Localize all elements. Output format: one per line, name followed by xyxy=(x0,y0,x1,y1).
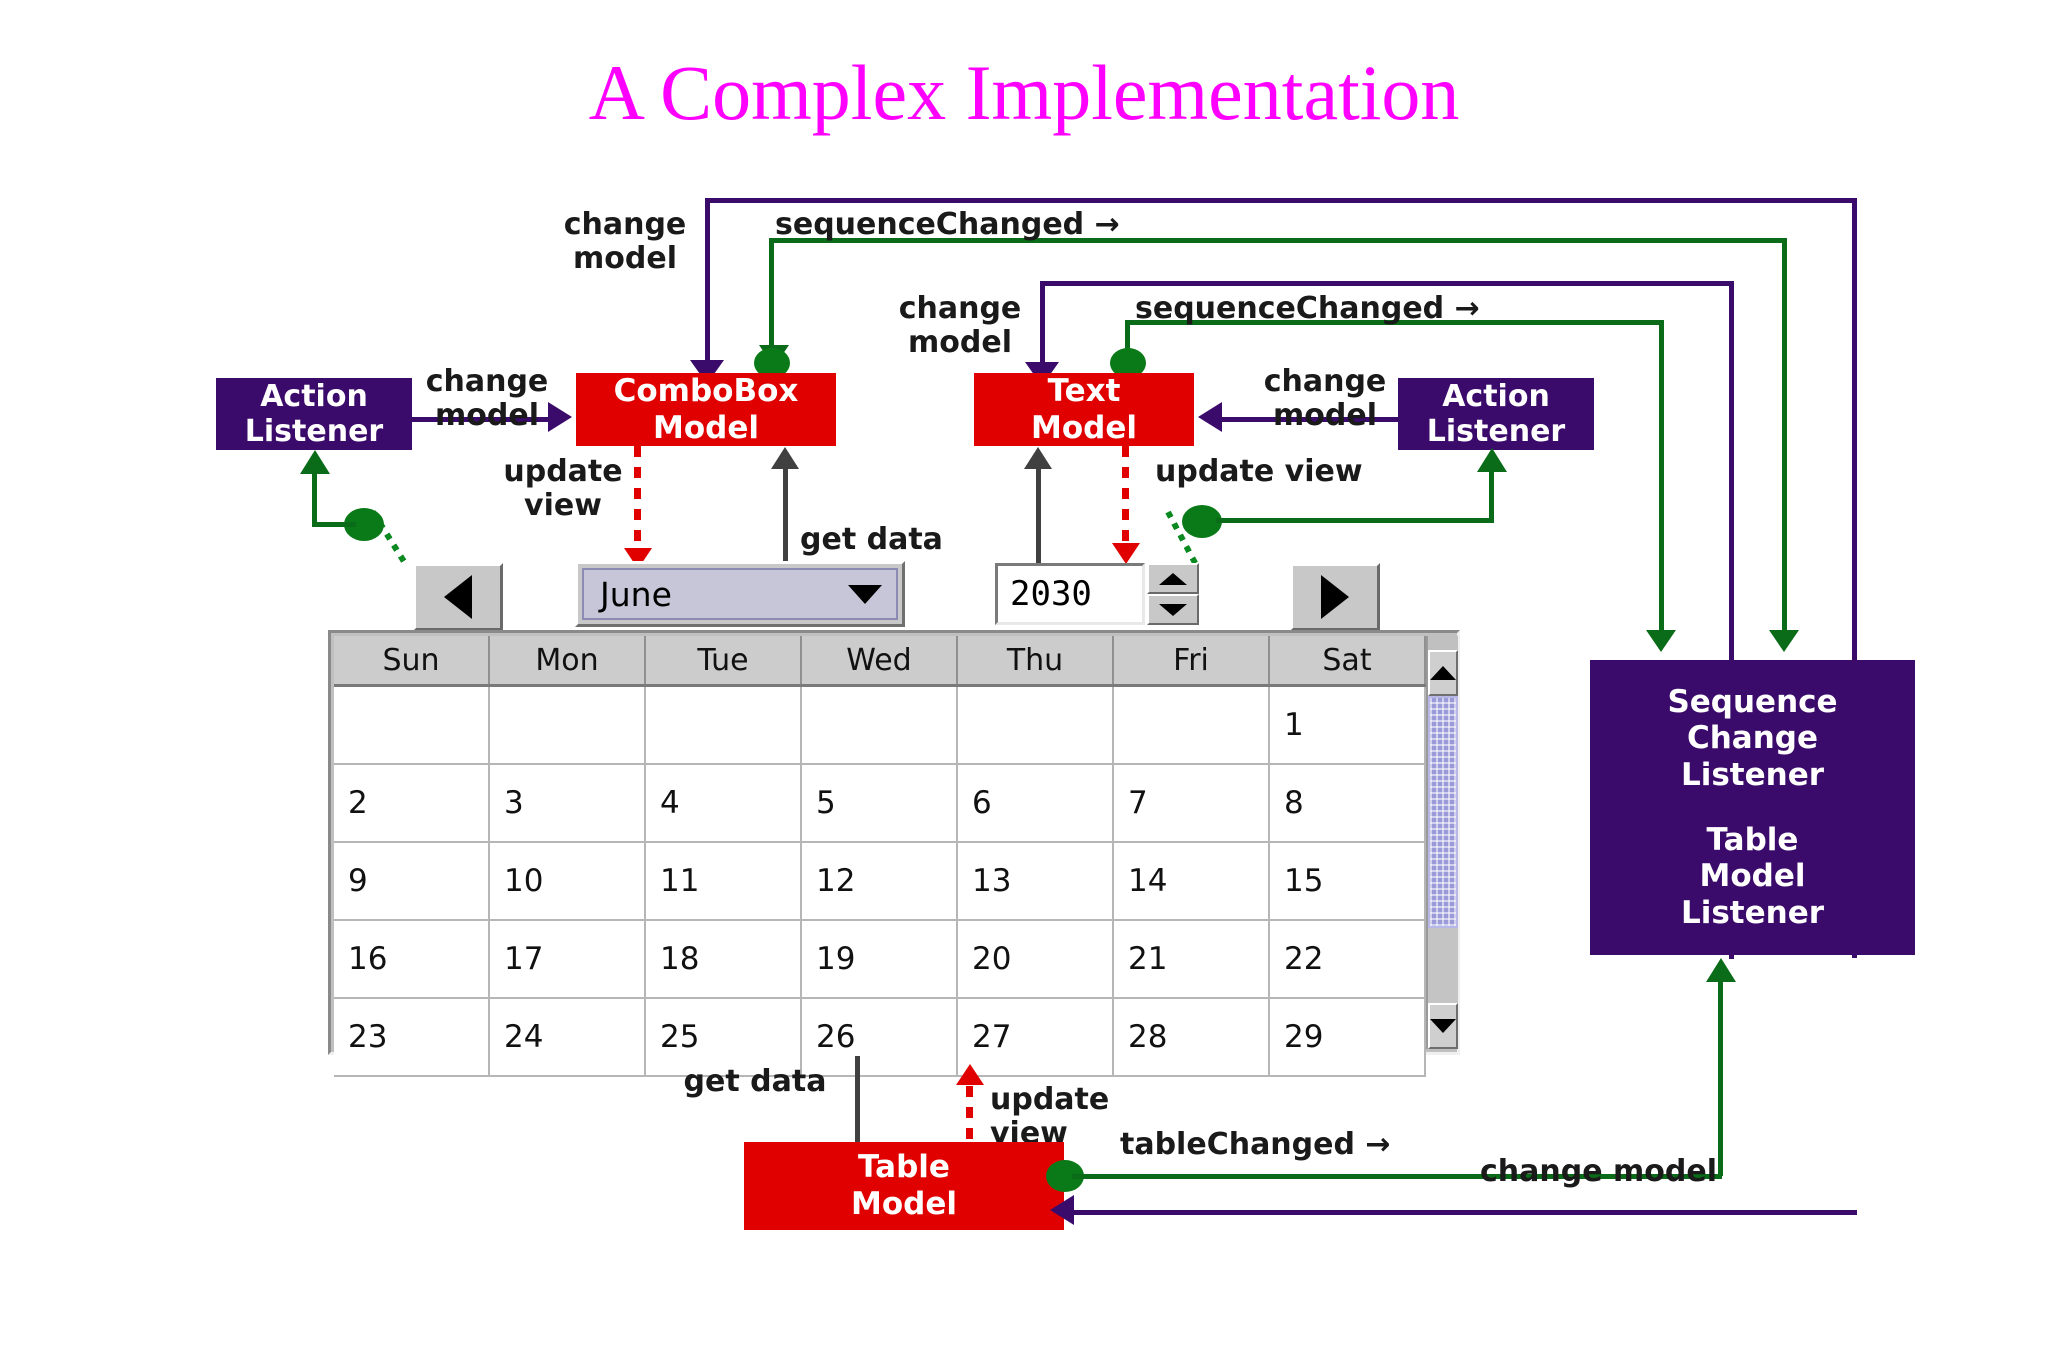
sequence-listener-line5: Model xyxy=(1700,858,1806,895)
sequence-listener-line2: Change xyxy=(1687,720,1818,757)
label-update-view-left: update view xyxy=(493,455,633,522)
year-spinner-buttons[interactable] xyxy=(1147,563,1199,625)
calendar-header-cell[interactable]: Fri xyxy=(1113,636,1269,686)
line-change-model-text-h xyxy=(1040,281,1734,286)
line-change-model-text-v-left xyxy=(1040,281,1045,369)
calendar-cell[interactable]: 5 xyxy=(801,764,957,842)
label-get-data-top: get data xyxy=(800,523,1000,557)
calendar-cell[interactable]: 28 xyxy=(1113,998,1269,1076)
box-text-model: Text Model xyxy=(974,373,1194,446)
line-get-data-combo xyxy=(783,458,788,570)
scrollbar-thumb[interactable] xyxy=(1428,696,1458,928)
table-row: 2 3 4 5 6 7 8 xyxy=(334,764,1425,842)
calendar-table-panel: Sun Mon Tue Wed Thu Fri Sat 1 xyxy=(328,630,1460,1055)
label-change-model-top-mid: change model xyxy=(880,292,1040,359)
line-update-view-text xyxy=(1122,446,1129,546)
line-get-data-spinner xyxy=(1036,458,1041,570)
label-update-view-bottom: update view xyxy=(990,1083,1140,1150)
arrowhead-table-changed xyxy=(1706,958,1736,982)
next-month-button[interactable] xyxy=(1290,563,1380,631)
line-event-next-h xyxy=(1216,518,1494,523)
arrowhead-al-right-to-text xyxy=(1198,402,1222,432)
calendar-header-cell[interactable]: Thu xyxy=(957,636,1113,686)
spinner-up-icon xyxy=(1159,573,1187,585)
scroll-down-icon xyxy=(1430,1019,1456,1033)
chevron-down-icon xyxy=(848,585,882,604)
calendar-cell[interactable]: 23 xyxy=(334,998,489,1076)
year-spinner-field[interactable]: 2030 xyxy=(995,563,1145,625)
calendar-cell[interactable] xyxy=(801,686,957,765)
page-title: A Complex Implementation xyxy=(0,48,2048,138)
calendar-cell[interactable]: 21 xyxy=(1113,920,1269,998)
calendar-cell[interactable]: 3 xyxy=(489,764,645,842)
action-listener-left-line1: Action xyxy=(260,379,368,414)
calendar-cell[interactable]: 6 xyxy=(957,764,1113,842)
calendar-header-row: Sun Mon Tue Wed Thu Fri Sat xyxy=(334,636,1425,686)
calendar-cell[interactable]: 10 xyxy=(489,842,645,920)
scroll-up-icon xyxy=(1430,666,1456,680)
box-sequence-change-listener: Sequence Change Listener Table Model Lis… xyxy=(1590,660,1915,955)
line-event-prev-h xyxy=(312,522,356,527)
arrowhead-change-model-table xyxy=(1050,1195,1074,1225)
scrollbar-down-button[interactable] xyxy=(1428,1003,1458,1049)
scrollbar-track[interactable] xyxy=(1428,696,1458,1003)
calendar-cell[interactable]: 11 xyxy=(645,842,801,920)
sequence-listener-line4: Table xyxy=(1707,822,1799,859)
line-change-model-table-h xyxy=(1074,1210,1857,1215)
line-seqchanged-text-down xyxy=(1659,320,1664,645)
calendar-cell[interactable] xyxy=(489,686,645,765)
slide-canvas: A Complex Implementation change model se… xyxy=(0,0,2048,1365)
box-action-listener-right: Action Listener xyxy=(1398,378,1594,450)
calendar-cell[interactable] xyxy=(645,686,801,765)
left-arrow-icon xyxy=(444,575,472,619)
calendar-cell[interactable]: 22 xyxy=(1269,920,1425,998)
line-seqchanged-combobox-down xyxy=(1782,238,1787,646)
label-table-changed: tableChanged → xyxy=(1120,1128,1490,1162)
arrowhead-update-view-table xyxy=(956,1064,984,1085)
label-sequence-changed-top: sequenceChanged → xyxy=(775,208,1175,242)
text-model-line2: Model xyxy=(1031,410,1137,447)
combobox-model-line1: ComboBox xyxy=(614,373,799,410)
calendar-scrollbar[interactable] xyxy=(1426,636,1458,1049)
line-table-changed-v xyxy=(1718,980,1723,1176)
label-change-model-bottom: change model xyxy=(1480,1155,1810,1189)
table-model-line1: Table xyxy=(858,1149,950,1186)
calendar-cell[interactable] xyxy=(334,686,489,765)
calendar-cell[interactable]: 24 xyxy=(489,998,645,1076)
arrowhead-get-data-spinner xyxy=(1024,447,1052,469)
prev-month-button[interactable] xyxy=(413,563,503,631)
arrowhead-update-view-text xyxy=(1112,543,1140,564)
scrollbar-corner xyxy=(1428,636,1458,650)
calendar-cell[interactable]: 16 xyxy=(334,920,489,998)
box-combobox-model: ComboBox Model xyxy=(576,373,836,446)
table-row: 23 24 25 26 27 28 29 xyxy=(334,998,1425,1076)
calendar-header-cell[interactable]: Wed xyxy=(801,636,957,686)
arrowhead-event-next-to-al xyxy=(1477,448,1507,472)
action-listener-left-line2: Listener xyxy=(245,414,383,449)
calendar-cell[interactable]: 7 xyxy=(1113,764,1269,842)
label-sequence-changed-mid: sequenceChanged → xyxy=(1135,292,1535,326)
year-spinner-value: 2030 xyxy=(1010,574,1092,614)
calendar-cell[interactable]: 17 xyxy=(489,920,645,998)
label-change-model-right: change model xyxy=(1250,365,1400,432)
sequence-listener-line6: Listener xyxy=(1681,895,1824,932)
line-get-data-table xyxy=(855,1056,860,1156)
label-change-model-top-left: change model xyxy=(545,208,705,275)
sequence-listener-line3: Listener xyxy=(1681,757,1824,794)
line-change-model-combobox-v-left xyxy=(705,198,710,366)
action-listener-right-line1: Action xyxy=(1442,379,1550,414)
scrollbar-up-button[interactable] xyxy=(1428,650,1458,696)
table-row: 9 10 11 12 13 14 15 xyxy=(334,842,1425,920)
month-combo-box[interactable]: June xyxy=(575,561,905,627)
calendar-cell[interactable]: 9 xyxy=(334,842,489,920)
action-listener-right-line2: Listener xyxy=(1427,414,1565,449)
calendar-cell[interactable]: 29 xyxy=(1269,998,1425,1076)
calendar-cell[interactable] xyxy=(957,686,1113,765)
calendar-cell[interactable]: 1 xyxy=(1269,686,1425,765)
calendar-header-cell[interactable]: Sat xyxy=(1269,636,1425,686)
arrowhead-get-data-combo xyxy=(771,447,799,469)
calendar-cell[interactable]: 20 xyxy=(957,920,1113,998)
month-combo-value: June xyxy=(600,575,672,614)
line-event-next-v xyxy=(1489,470,1494,522)
sequence-listener-line1: Sequence xyxy=(1667,684,1837,721)
calendar-cell[interactable]: 13 xyxy=(957,842,1113,920)
label-get-data-bottom: get data xyxy=(655,1065,855,1099)
spinner-down-icon xyxy=(1159,604,1187,616)
box-table-model: Table Model xyxy=(744,1142,1064,1230)
arrowhead-seqchanged-to-listener-2 xyxy=(1646,630,1676,652)
text-model-line1: Text xyxy=(1048,373,1121,410)
calendar-cell[interactable] xyxy=(1113,686,1269,765)
box-action-listener-left: Action Listener xyxy=(216,378,412,450)
year-spinner-up-button[interactable] xyxy=(1147,563,1199,594)
calendar-cell[interactable]: 8 xyxy=(1269,764,1425,842)
table-row: 1 xyxy=(334,686,1425,765)
calendar-cell[interactable]: 12 xyxy=(801,842,957,920)
line-update-view-combobox xyxy=(634,446,641,551)
combobox-model-line2: Model xyxy=(653,410,759,447)
calendar-cell[interactable]: 18 xyxy=(645,920,801,998)
table-model-line2: Model xyxy=(851,1186,957,1223)
calendar-cell[interactable]: 14 xyxy=(1113,842,1269,920)
calendar-header-cell[interactable]: Tue xyxy=(645,636,801,686)
year-spinner-down-button[interactable] xyxy=(1147,594,1199,625)
calendar-cell[interactable]: 19 xyxy=(801,920,957,998)
line-event-prev-v xyxy=(312,472,317,524)
calendar-cell[interactable]: 15 xyxy=(1269,842,1425,920)
label-change-model-left: change model xyxy=(412,365,562,432)
label-update-view-right: update view xyxy=(1155,455,1385,489)
calendar-header-cell[interactable]: Sun xyxy=(334,636,489,686)
year-spinner[interactable]: 2030 xyxy=(995,563,1199,625)
line-change-model-combobox-h xyxy=(705,198,1857,203)
calendar-cell[interactable]: 2 xyxy=(334,764,489,842)
month-combo-inner[interactable]: June xyxy=(582,568,898,620)
table-row: 16 17 18 19 20 21 22 xyxy=(334,920,1425,998)
arrowhead-event-prev-to-al xyxy=(300,450,330,474)
arrowhead-seqchanged-to-listener-1 xyxy=(1769,630,1799,652)
calendar-cell[interactable]: 4 xyxy=(645,764,801,842)
calendar-table[interactable]: Sun Mon Tue Wed Thu Fri Sat 1 xyxy=(334,636,1426,1077)
calendar-header-cell[interactable]: Mon xyxy=(489,636,645,686)
right-arrow-icon xyxy=(1321,575,1349,619)
